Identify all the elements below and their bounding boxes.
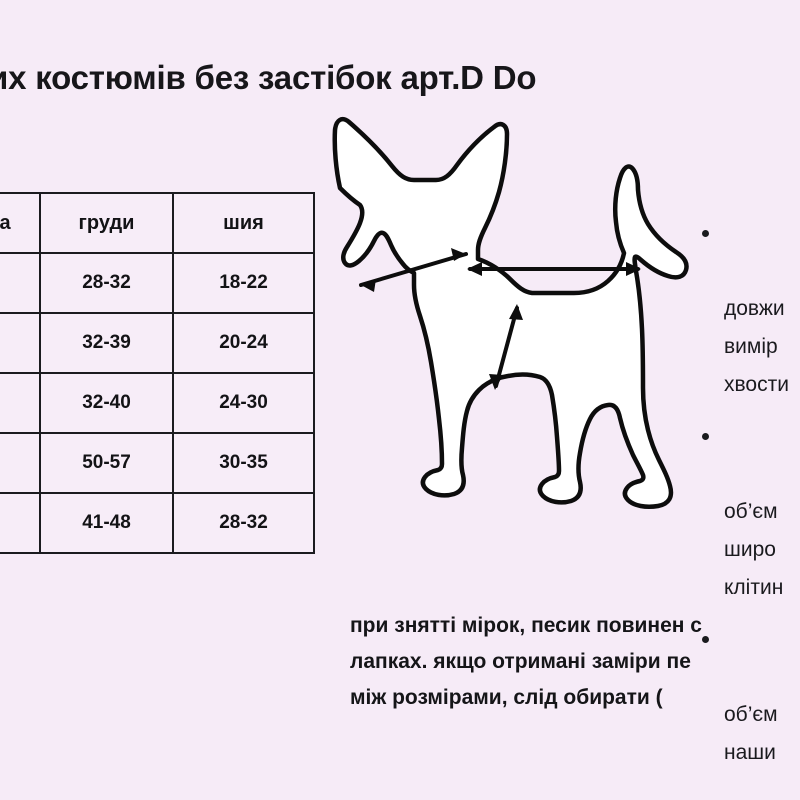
table-row: 32-40 24-30 <box>0 373 314 433</box>
page-title: егких костюмів без застібок арт.D Do <box>0 56 800 100</box>
table-row: 32-39 20-24 <box>0 313 314 373</box>
bullet-icon <box>702 230 709 237</box>
cell-length <box>0 373 40 433</box>
cell-length <box>0 433 40 493</box>
cell-neck: 18-22 <box>173 253 314 313</box>
cell-neck: 30-35 <box>173 433 314 493</box>
cell-length <box>0 313 40 373</box>
table-header-neck: шия <box>173 193 314 253</box>
table-row: 41-48 28-32 <box>0 493 314 553</box>
cell-length <box>0 253 40 313</box>
cell-chest: 28-32 <box>40 253 173 313</box>
cell-neck: 24-30 <box>173 373 314 433</box>
table-row: 28-32 18-22 <box>0 253 314 313</box>
list-item-text: довжи вимір хвости <box>724 297 789 396</box>
cell-neck: 20-24 <box>173 313 314 373</box>
cell-length <box>0 493 40 553</box>
table-header-row: a груди шия <box>0 193 314 253</box>
cell-chest: 41-48 <box>40 493 173 553</box>
table-header-chest: груди <box>40 193 173 253</box>
size-table: a груди шия 28-32 18-22 32-39 20-24 32 <box>0 192 315 554</box>
cell-neck: 28-32 <box>173 493 314 553</box>
table-row: 50-57 30-35 <box>0 433 314 493</box>
list-item: довжи вимір хвости <box>698 214 800 404</box>
cell-chest: 32-40 <box>40 373 173 433</box>
dog-measurement-illustration <box>318 108 708 538</box>
table-header-length: a <box>0 193 40 253</box>
size-chart-page: егких костюмів без застібок арт.D Do a г… <box>0 0 800 800</box>
list-item-text: об’єм широ клітин <box>724 500 783 599</box>
dog-silhouette-icon <box>335 119 687 507</box>
bullet-icon <box>702 433 709 440</box>
footer-note: при знятті мірок, песик повинен с лапках… <box>350 608 800 716</box>
list-item: об’єм широ клітин <box>698 417 800 607</box>
cell-chest: 32-39 <box>40 313 173 373</box>
cell-chest: 50-57 <box>40 433 173 493</box>
